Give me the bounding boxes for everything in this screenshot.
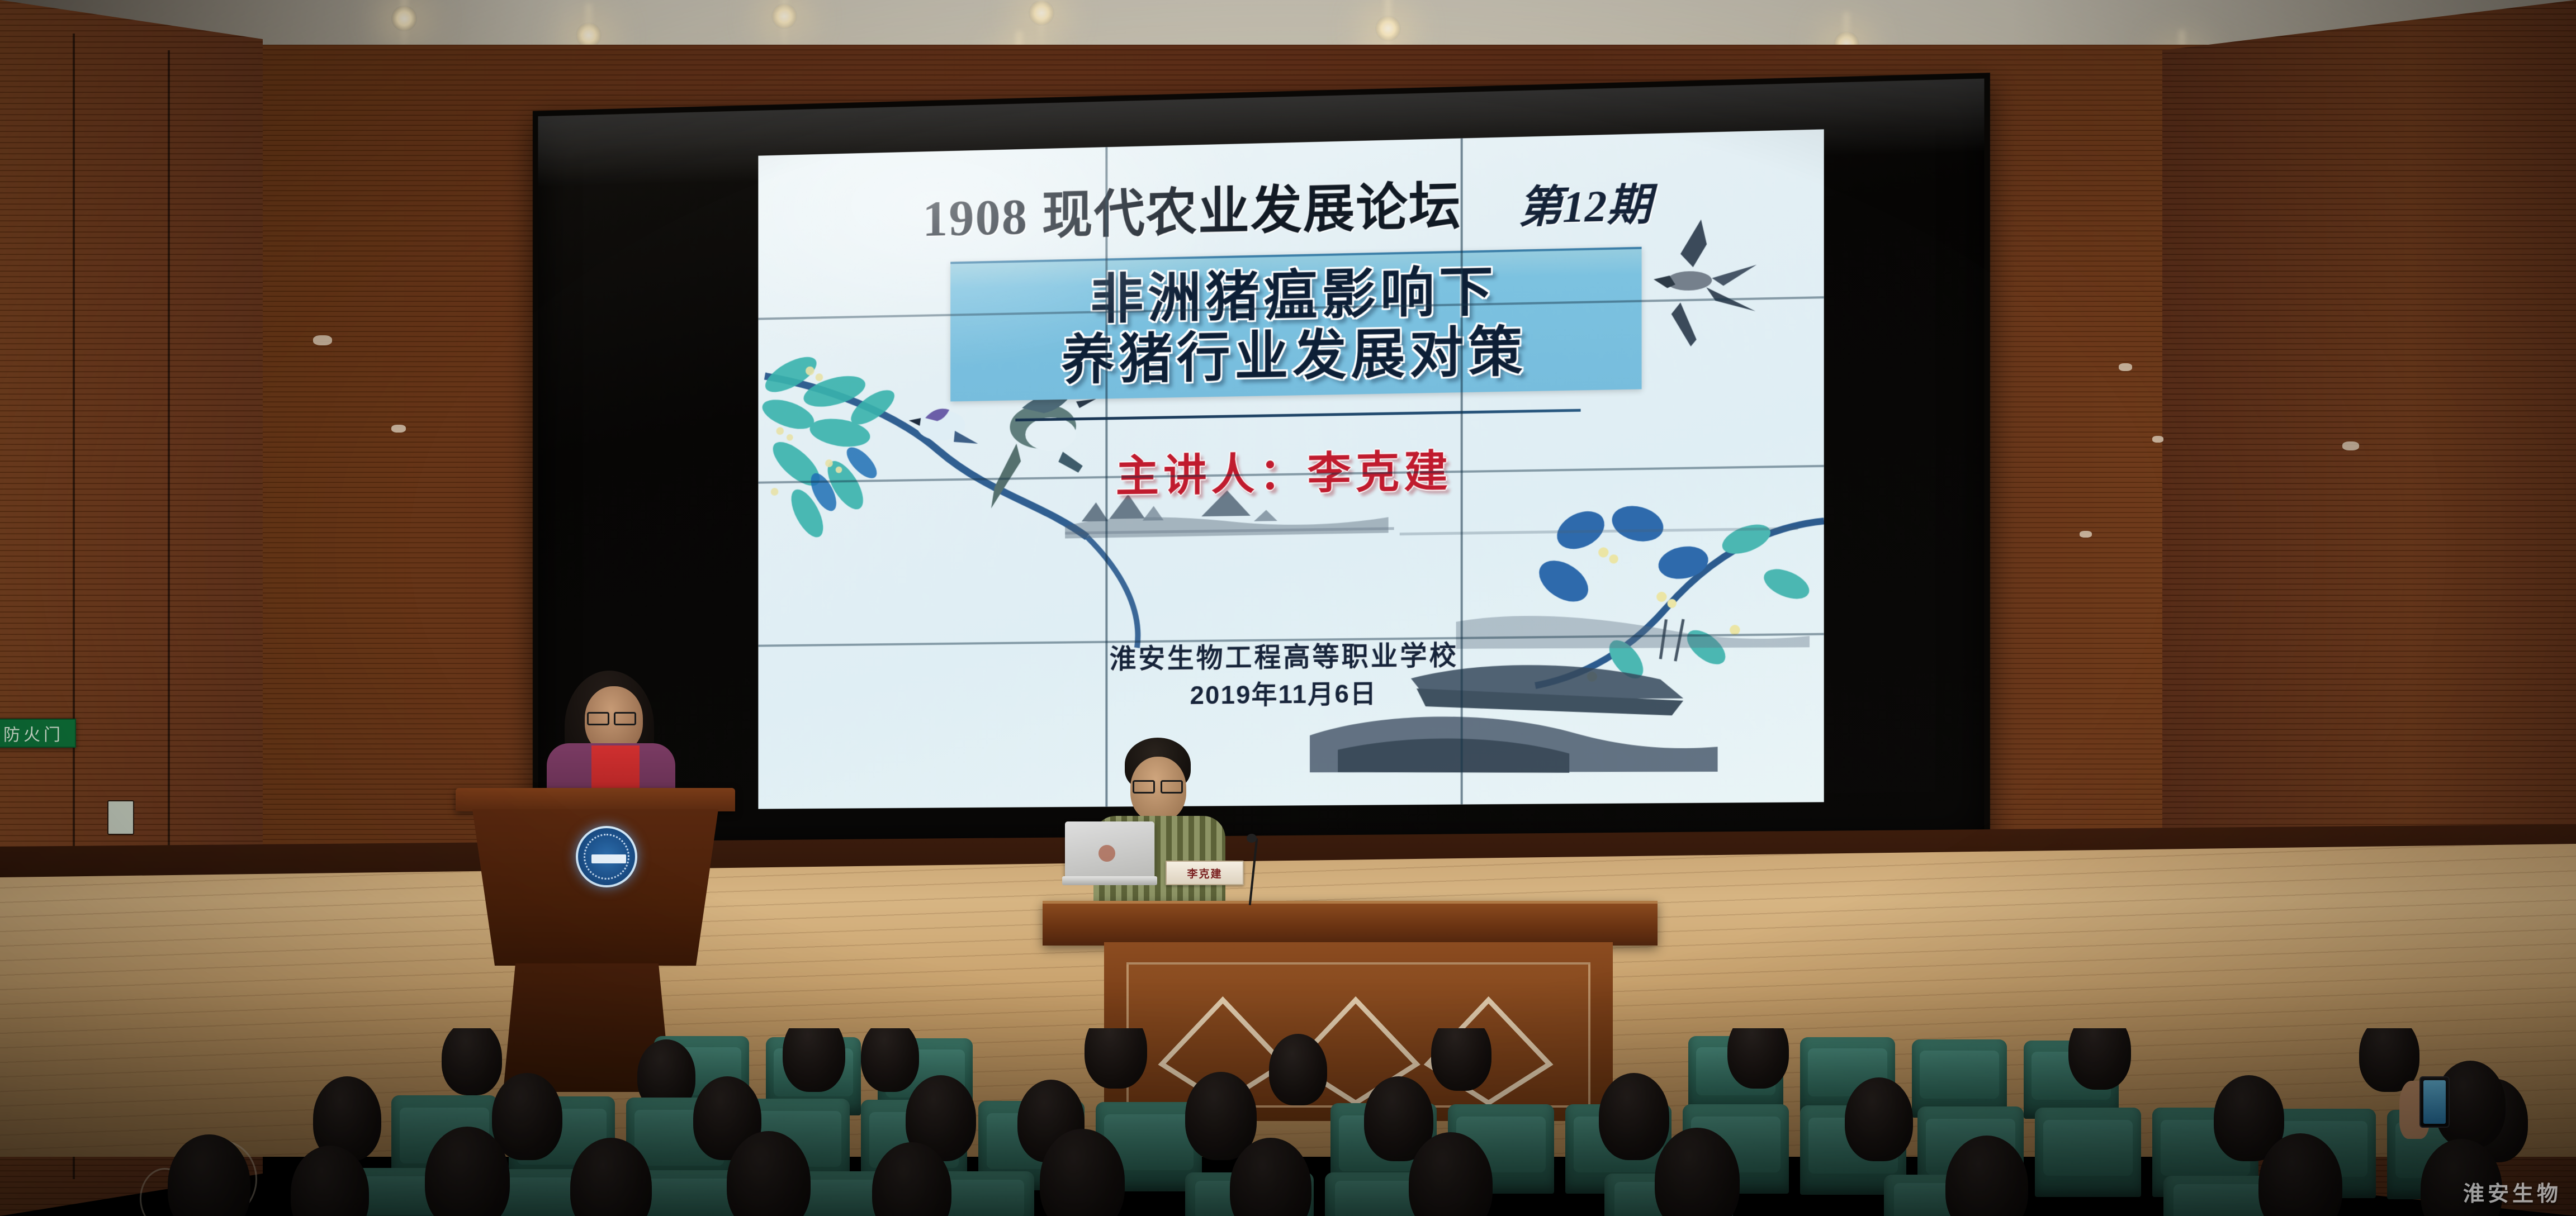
fire-door-sign-label: 防火门 — [3, 721, 64, 745]
slide-title-line-2: 养猪行业发展对策 — [1062, 323, 1527, 389]
audience-area — [0, 1028, 2576, 1216]
wall-mark-4 — [2152, 436, 2163, 443]
microphone-head — [1247, 834, 1257, 843]
laptop-base[interactable] — [1062, 876, 1157, 885]
podium-top — [456, 788, 735, 811]
ceiling-light-2 — [771, 3, 797, 29]
speaker-glasses-right — [1161, 780, 1183, 794]
auditorium-scene: 防火门 — [0, 0, 2576, 1216]
host-glasses — [587, 712, 609, 725]
seat-pad — [2043, 1120, 2133, 1175]
seat[interactable] — [2035, 1108, 2141, 1197]
wall-mark-3 — [2119, 363, 2132, 371]
forum-series-title: 1908 现代农业发展论坛 — [922, 164, 1462, 251]
forum-issue-number: 第12期 — [1518, 169, 1651, 236]
slide-header: 1908 现代农业发展论坛 第12期 — [758, 155, 1824, 254]
laptop-lid[interactable] — [1065, 821, 1154, 880]
speaker-nameplate: 李克建 — [1166, 861, 1244, 885]
wall-switch-plate[interactable] — [107, 800, 134, 835]
phone[interactable] — [2419, 1076, 2450, 1128]
watermark: 淮安生物 — [2463, 1176, 2561, 1207]
ceiling-light-6 — [1375, 16, 1401, 41]
presentation-slide[interactable]: 1908 现代农业发展论坛 第12期 非洲猪瘟影响下 养猪行业发展对策 主讲人：… — [758, 129, 1824, 809]
head-table-top — [1043, 901, 1658, 946]
wall-mark-5 — [2342, 441, 2359, 450]
attendee-head — [1599, 1073, 1669, 1160]
attendee-head — [1085, 1028, 1147, 1089]
seat[interactable] — [1912, 1039, 2007, 1118]
swallow-ink-painting — [1654, 218, 1756, 348]
laptop-logo — [1098, 845, 1115, 862]
ceiling-light-14 — [391, 6, 417, 31]
speaker-glasses-left — [1133, 780, 1155, 794]
attendee-head — [783, 1028, 845, 1092]
wall-mark-1 — [313, 335, 332, 345]
slide-title-box: 非洲猪瘟影响下 养猪行业发展对策 — [950, 247, 1641, 402]
attendee-head — [2068, 1028, 2131, 1090]
attendee-head — [442, 1028, 502, 1095]
attendee-head — [1845, 1077, 1913, 1161]
school-emblem — [576, 826, 637, 887]
wall-mark-2 — [391, 425, 406, 433]
host-glasses-right — [614, 712, 636, 725]
fire-door-sign: 防火门 — [0, 719, 76, 748]
phone-screen — [2423, 1080, 2446, 1124]
attendee-head — [1727, 1028, 1789, 1089]
emblem-banner — [591, 854, 626, 863]
attendee-head — [861, 1028, 919, 1092]
attendee-head — [492, 1073, 562, 1160]
video-wall[interactable]: 1908 现代农业发展论坛 第12期 非洲猪瘟影响下 养猪行业发展对策 主讲人：… — [533, 73, 1990, 853]
attendee-head — [168, 1134, 250, 1216]
attendee-head — [1269, 1034, 1327, 1105]
ceiling-light-4 — [1029, 0, 1054, 26]
slide-speaker-label: 主讲人：李克建 — [758, 430, 1824, 510]
slide-title-line-1: 非洲猪瘟影响下 — [1090, 263, 1498, 329]
seat-pad — [1920, 1051, 2000, 1099]
attendee-head — [1431, 1028, 1491, 1091]
wall-mark-6 — [2080, 531, 2092, 538]
slide-divider-rule — [1015, 409, 1580, 421]
